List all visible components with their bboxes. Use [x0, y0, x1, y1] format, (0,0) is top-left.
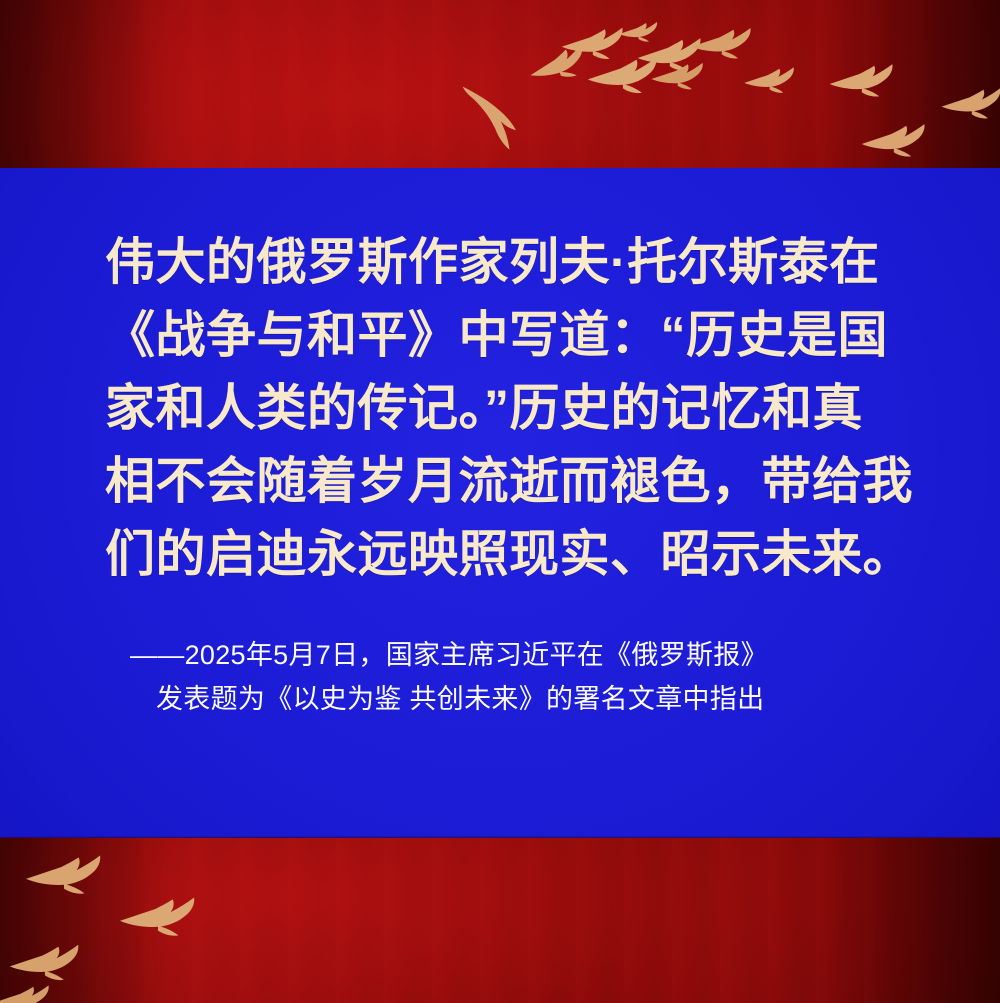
quote-line: 相不会随着岁月流逝而褪色，带给我 [105, 445, 895, 518]
attribution-line: ——2025年5月7日，国家主席习近平在《俄罗斯报》 [130, 633, 870, 677]
bird-icon [455, 78, 527, 154]
quote-line: 伟大的俄罗斯作家列夫·托尔斯泰在 [105, 226, 895, 299]
top-decorative-band [0, 0, 1000, 170]
attribution-line: 发表题为《以史为鉴 共创未来》的署名文章中指出 [130, 677, 870, 721]
bird-icon [0, 980, 50, 1003]
bird-icon [743, 62, 795, 96]
poster-canvas: 伟大的俄罗斯作家列夫·托尔斯泰在 《战争与和平》中写道：“历史是国 家和人类的传… [0, 0, 1000, 1003]
quote-text-block: 伟大的俄罗斯作家列夫·托尔斯泰在 《战争与和平》中写道：“历史是国 家和人类的传… [105, 226, 895, 591]
bird-icon [24, 848, 102, 898]
bird-icon [690, 22, 752, 62]
bird-icon [828, 58, 894, 100]
bird-icon [8, 938, 80, 984]
poster-content: 伟大的俄罗斯作家列夫·托尔斯泰在 《战争与和平》中写道：“历史是国 家和人类的传… [0, 168, 1000, 838]
attribution-block: ——2025年5月7日，国家主席习近平在《俄罗斯报》 发表题为《以史为鉴 共创未… [130, 633, 870, 721]
top-band-bird-flock [0, 0, 1000, 170]
bottom-decorative-band [0, 838, 1000, 1003]
quote-line: 家和人类的传记。”历史的记忆和真 [105, 372, 895, 445]
bottom-band-bird-flock [0, 838, 1000, 1003]
bird-icon [860, 118, 926, 160]
bird-icon [118, 890, 196, 940]
quote-line: 《战争与和平》中写道：“历史是国 [105, 299, 895, 372]
bird-icon [586, 52, 658, 96]
bird-icon [940, 82, 1000, 122]
quote-line: 们的启迪永远映照现实、昭示未来。 [105, 518, 895, 591]
bird-icon [650, 58, 704, 92]
